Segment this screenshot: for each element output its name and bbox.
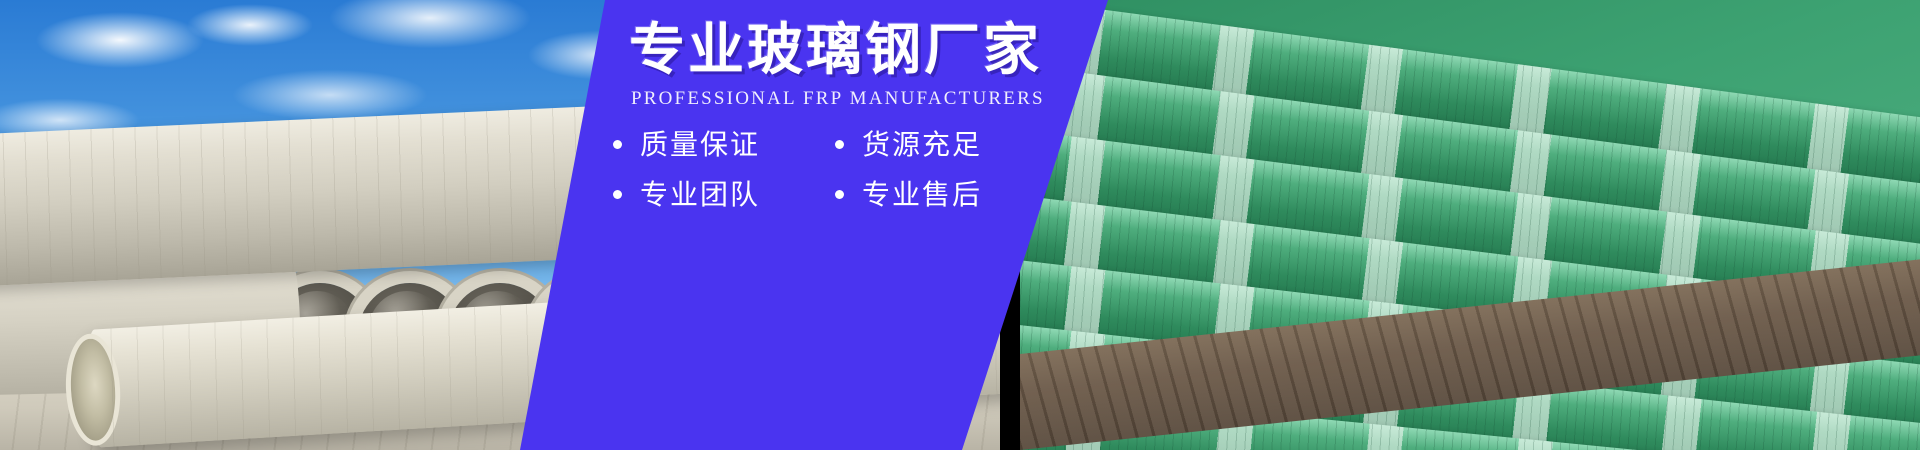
bullet-item-aftersales: 专业售后: [835, 176, 1053, 214]
bullet-dot-icon: [613, 140, 622, 149]
bullet-row: 专业团队 专业售后: [613, 176, 1113, 214]
banner-subtitle: PROFESSIONAL FRP MANUFACTURERS: [631, 88, 1111, 110]
bullet-dot-icon: [835, 140, 844, 149]
banner-headline: 专业玻璃钢厂家: [629, 22, 1109, 78]
bullet-dot-icon: [835, 190, 844, 199]
bullet-item-team: 专业团队: [613, 176, 831, 214]
bullet-row: 质量保证 货源充足: [613, 126, 1113, 164]
bullet-label: 专业售后: [862, 176, 982, 214]
bullet-item-quality: 质量保证: [613, 126, 831, 164]
bullet-dot-icon: [613, 190, 622, 199]
frp-promo-banner: 专业玻璃钢厂家 PROFESSIONAL FRP MANUFACTURERS 质…: [0, 0, 1920, 450]
bullet-item-supply: 货源充足: [835, 126, 1053, 164]
bullet-label: 货源充足: [862, 126, 982, 164]
bullet-label: 质量保证: [640, 126, 760, 164]
bullet-label: 专业团队: [640, 176, 760, 214]
feature-bullet-list: 质量保证 货源充足 专业团队 专业售后: [613, 126, 1113, 226]
right-product-photo: [1020, 0, 1920, 450]
banner-text-block: 专业玻璃钢厂家 PROFESSIONAL FRP MANUFACTURERS 质…: [605, 0, 1125, 450]
